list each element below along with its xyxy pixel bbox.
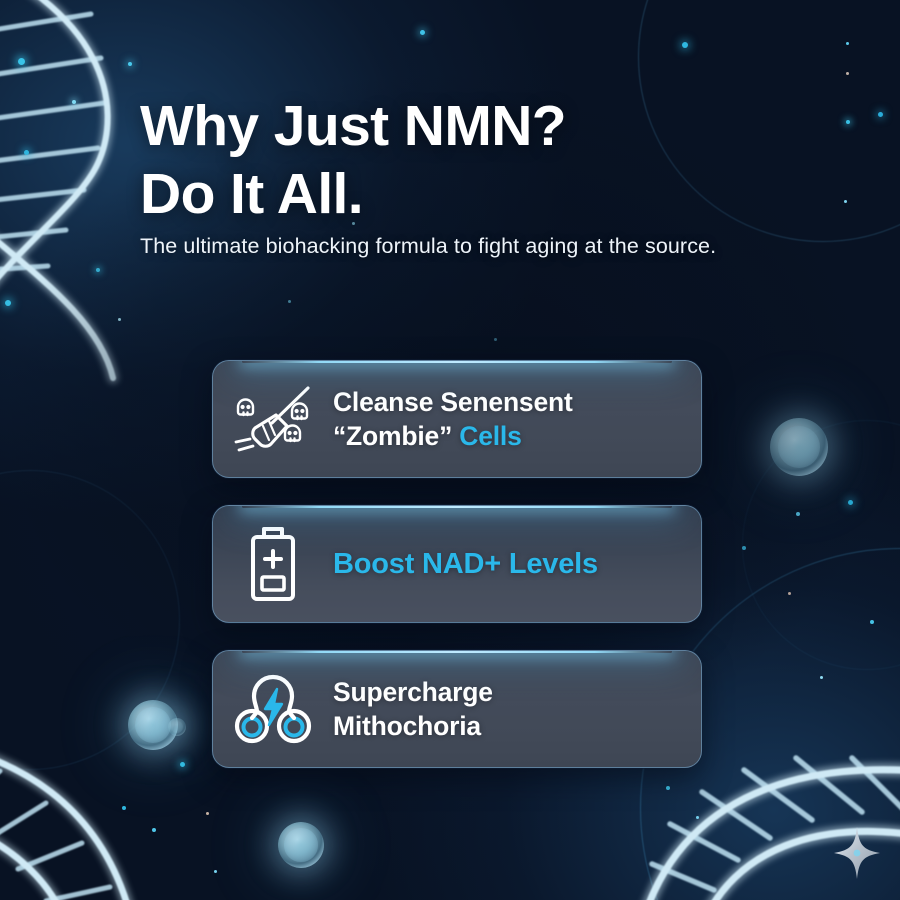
benefit-card-cleanse-zombie-cells[interactable]: Cleanse Senensent “Zombie” Cells bbox=[212, 360, 702, 478]
benefit-card-list: Cleanse Senensent “Zombie” Cells Boost N… bbox=[212, 360, 702, 795]
poster-canvas: Why Just NMN? Do It All. The ultimate bi… bbox=[0, 0, 900, 900]
benefit-card-label: Supercharge Mithochoria bbox=[333, 675, 701, 743]
benefit-card-boost-nad-levels[interactable]: Boost NAD+ Levels bbox=[212, 505, 702, 623]
subheadline: The ultimate biohacking formula to fight… bbox=[140, 234, 716, 259]
benefit-line-2-accent: Cells bbox=[459, 421, 521, 451]
benefit-card-supercharge-mitochondria[interactable]: Supercharge Mithochoria bbox=[212, 650, 702, 768]
battery-plus-icon bbox=[213, 506, 333, 622]
benefit-card-label: Cleanse Senensent “Zombie” Cells bbox=[333, 385, 701, 453]
mitochondria-bolt-icon bbox=[213, 651, 333, 767]
benefit-line-1: Supercharge bbox=[333, 675, 701, 709]
four-point-sparkle-icon[interactable] bbox=[833, 827, 881, 879]
headline-line-1: Why Just NMN? bbox=[140, 94, 566, 158]
headline-line-2: Do It All. bbox=[140, 160, 566, 228]
broom-skulls-icon bbox=[213, 361, 333, 477]
poster-content: Why Just NMN? Do It All. The ultimate bi… bbox=[0, 0, 900, 900]
benefit-line-1: Boost NAD+ Levels bbox=[333, 547, 701, 581]
benefit-card-label: Boost NAD+ Levels bbox=[333, 547, 701, 581]
benefit-line-2: Mithochoria bbox=[333, 709, 701, 743]
benefit-line-1: Cleanse Senensent bbox=[333, 385, 701, 419]
page-title: Why Just NMN? Do It All. bbox=[140, 92, 566, 228]
benefit-line-2: “Zombie” Cells bbox=[333, 419, 701, 453]
benefit-line-2-prefix: “Zombie” bbox=[333, 421, 459, 451]
